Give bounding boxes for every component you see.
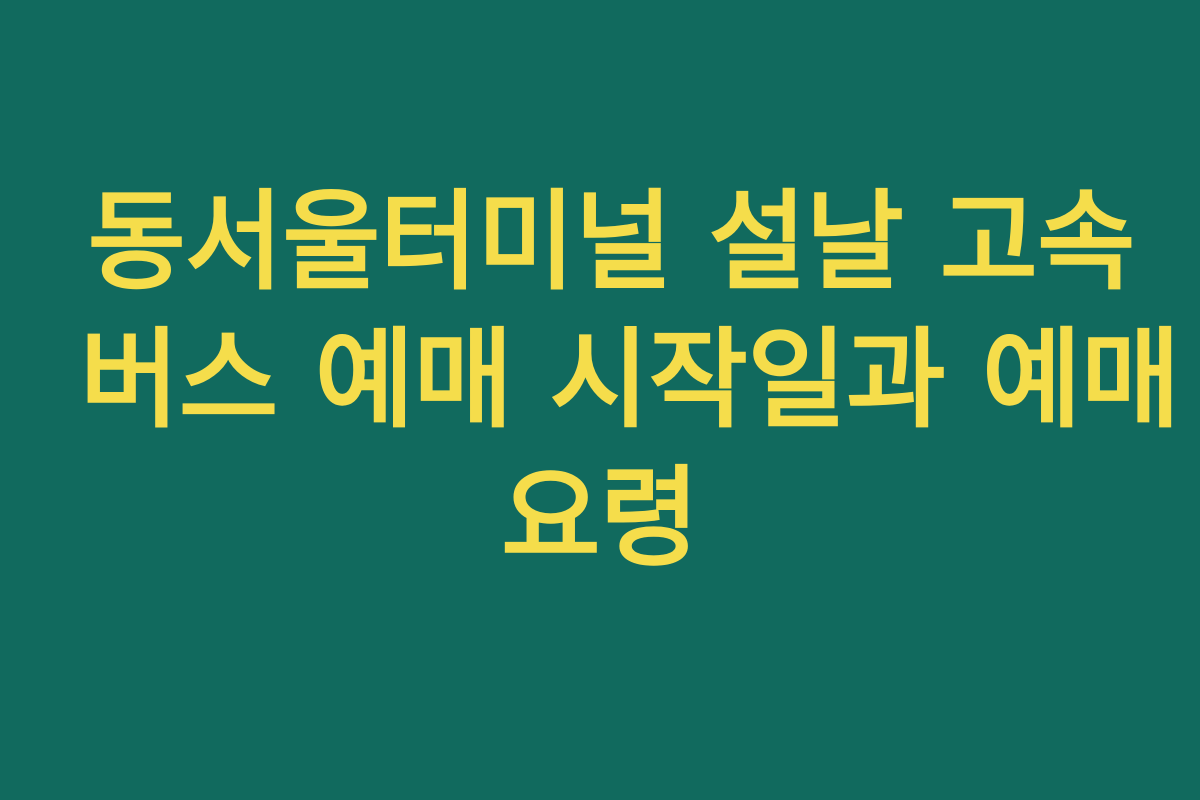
headline-line-1: 동서울터미널 설날 고속 (88, 174, 1112, 312)
headline-block: 동서울터미널 설날 고속 버스 예매 시작일과 예매 요령 (80, 174, 1120, 588)
thumbnail-canvas: 동서울터미널 설날 고속 버스 예매 시작일과 예매 요령 (0, 0, 1200, 800)
headline-line-3: 요령 (80, 450, 1120, 588)
headline-line-2: 버스 예매 시작일과 예매 (80, 312, 1120, 450)
